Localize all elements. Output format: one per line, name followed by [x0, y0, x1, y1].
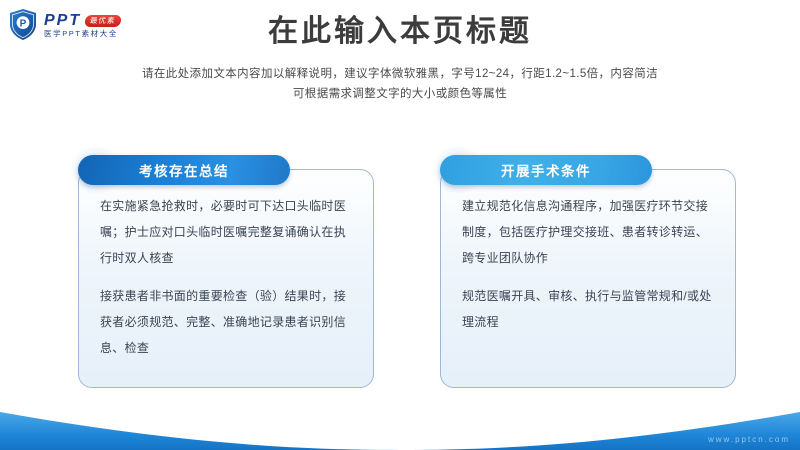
subtitle-line-1: 请在此处添加文本内容加以解释说明，建议字体微软雅黑，字号12~24，行距1.2~…: [0, 64, 800, 84]
card-right-body: 建立规范化信息沟通程序，加强医疗环节交接制度，包括医疗护理交接班、患者转诊转运、…: [462, 193, 720, 335]
site-watermark: www.pptcn.com: [708, 435, 790, 444]
content-column-right: 开展手术条件 建立规范化信息沟通程序，加强医疗环节交接制度，包括医疗护理交接班、…: [440, 155, 736, 390]
subtitle-line-2: 可根据需求调整文字的大小或颜色等属性: [0, 84, 800, 104]
slide-canvas: P PPT 最优素 医学PPT素材大全 在此输入本页标题 请在此处添加文本内容加…: [0, 0, 800, 450]
content-columns: 考核存在总结 在实施紧急抢救时，必要时可下达口头临时医嘱；护士应对口头临时医嘱完…: [0, 155, 800, 395]
card-right-paragraph-1: 建立规范化信息沟通程序，加强医疗环节交接制度，包括医疗护理交接班、患者转诊转运、…: [462, 193, 720, 271]
card-right-paragraph-2: 规范医嘱开具、审核、执行与监管常规和/或处理流程: [462, 283, 720, 335]
content-column-left: 考核存在总结 在实施紧急抢救时，必要时可下达口头临时医嘱；护士应对口头临时医嘱完…: [78, 155, 374, 390]
card-left-paragraph-1: 在实施紧急抢救时，必要时可下达口头临时医嘱；护士应对口头临时医嘱完整复诵确认在执…: [100, 193, 358, 271]
card-left-body: 在实施紧急抢救时，必要时可下达口头临时医嘱；护士应对口头临时医嘱完整复诵确认在执…: [100, 193, 358, 361]
card-left-header-pill[interactable]: 考核存在总结: [78, 155, 290, 185]
page-subtitle: 请在此处添加文本内容加以解释说明，建议字体微软雅黑，字号12~24，行距1.2~…: [0, 64, 800, 104]
card-left-paragraph-2: 接获患者非书面的重要检查（验）结果时，接获者必须规范、完整、准确地记录患者识别信…: [100, 283, 358, 361]
card-right-header-pill[interactable]: 开展手术条件: [440, 155, 652, 185]
page-title: 在此输入本页标题: [0, 14, 800, 50]
footer-wave-decoration: [0, 410, 800, 450]
